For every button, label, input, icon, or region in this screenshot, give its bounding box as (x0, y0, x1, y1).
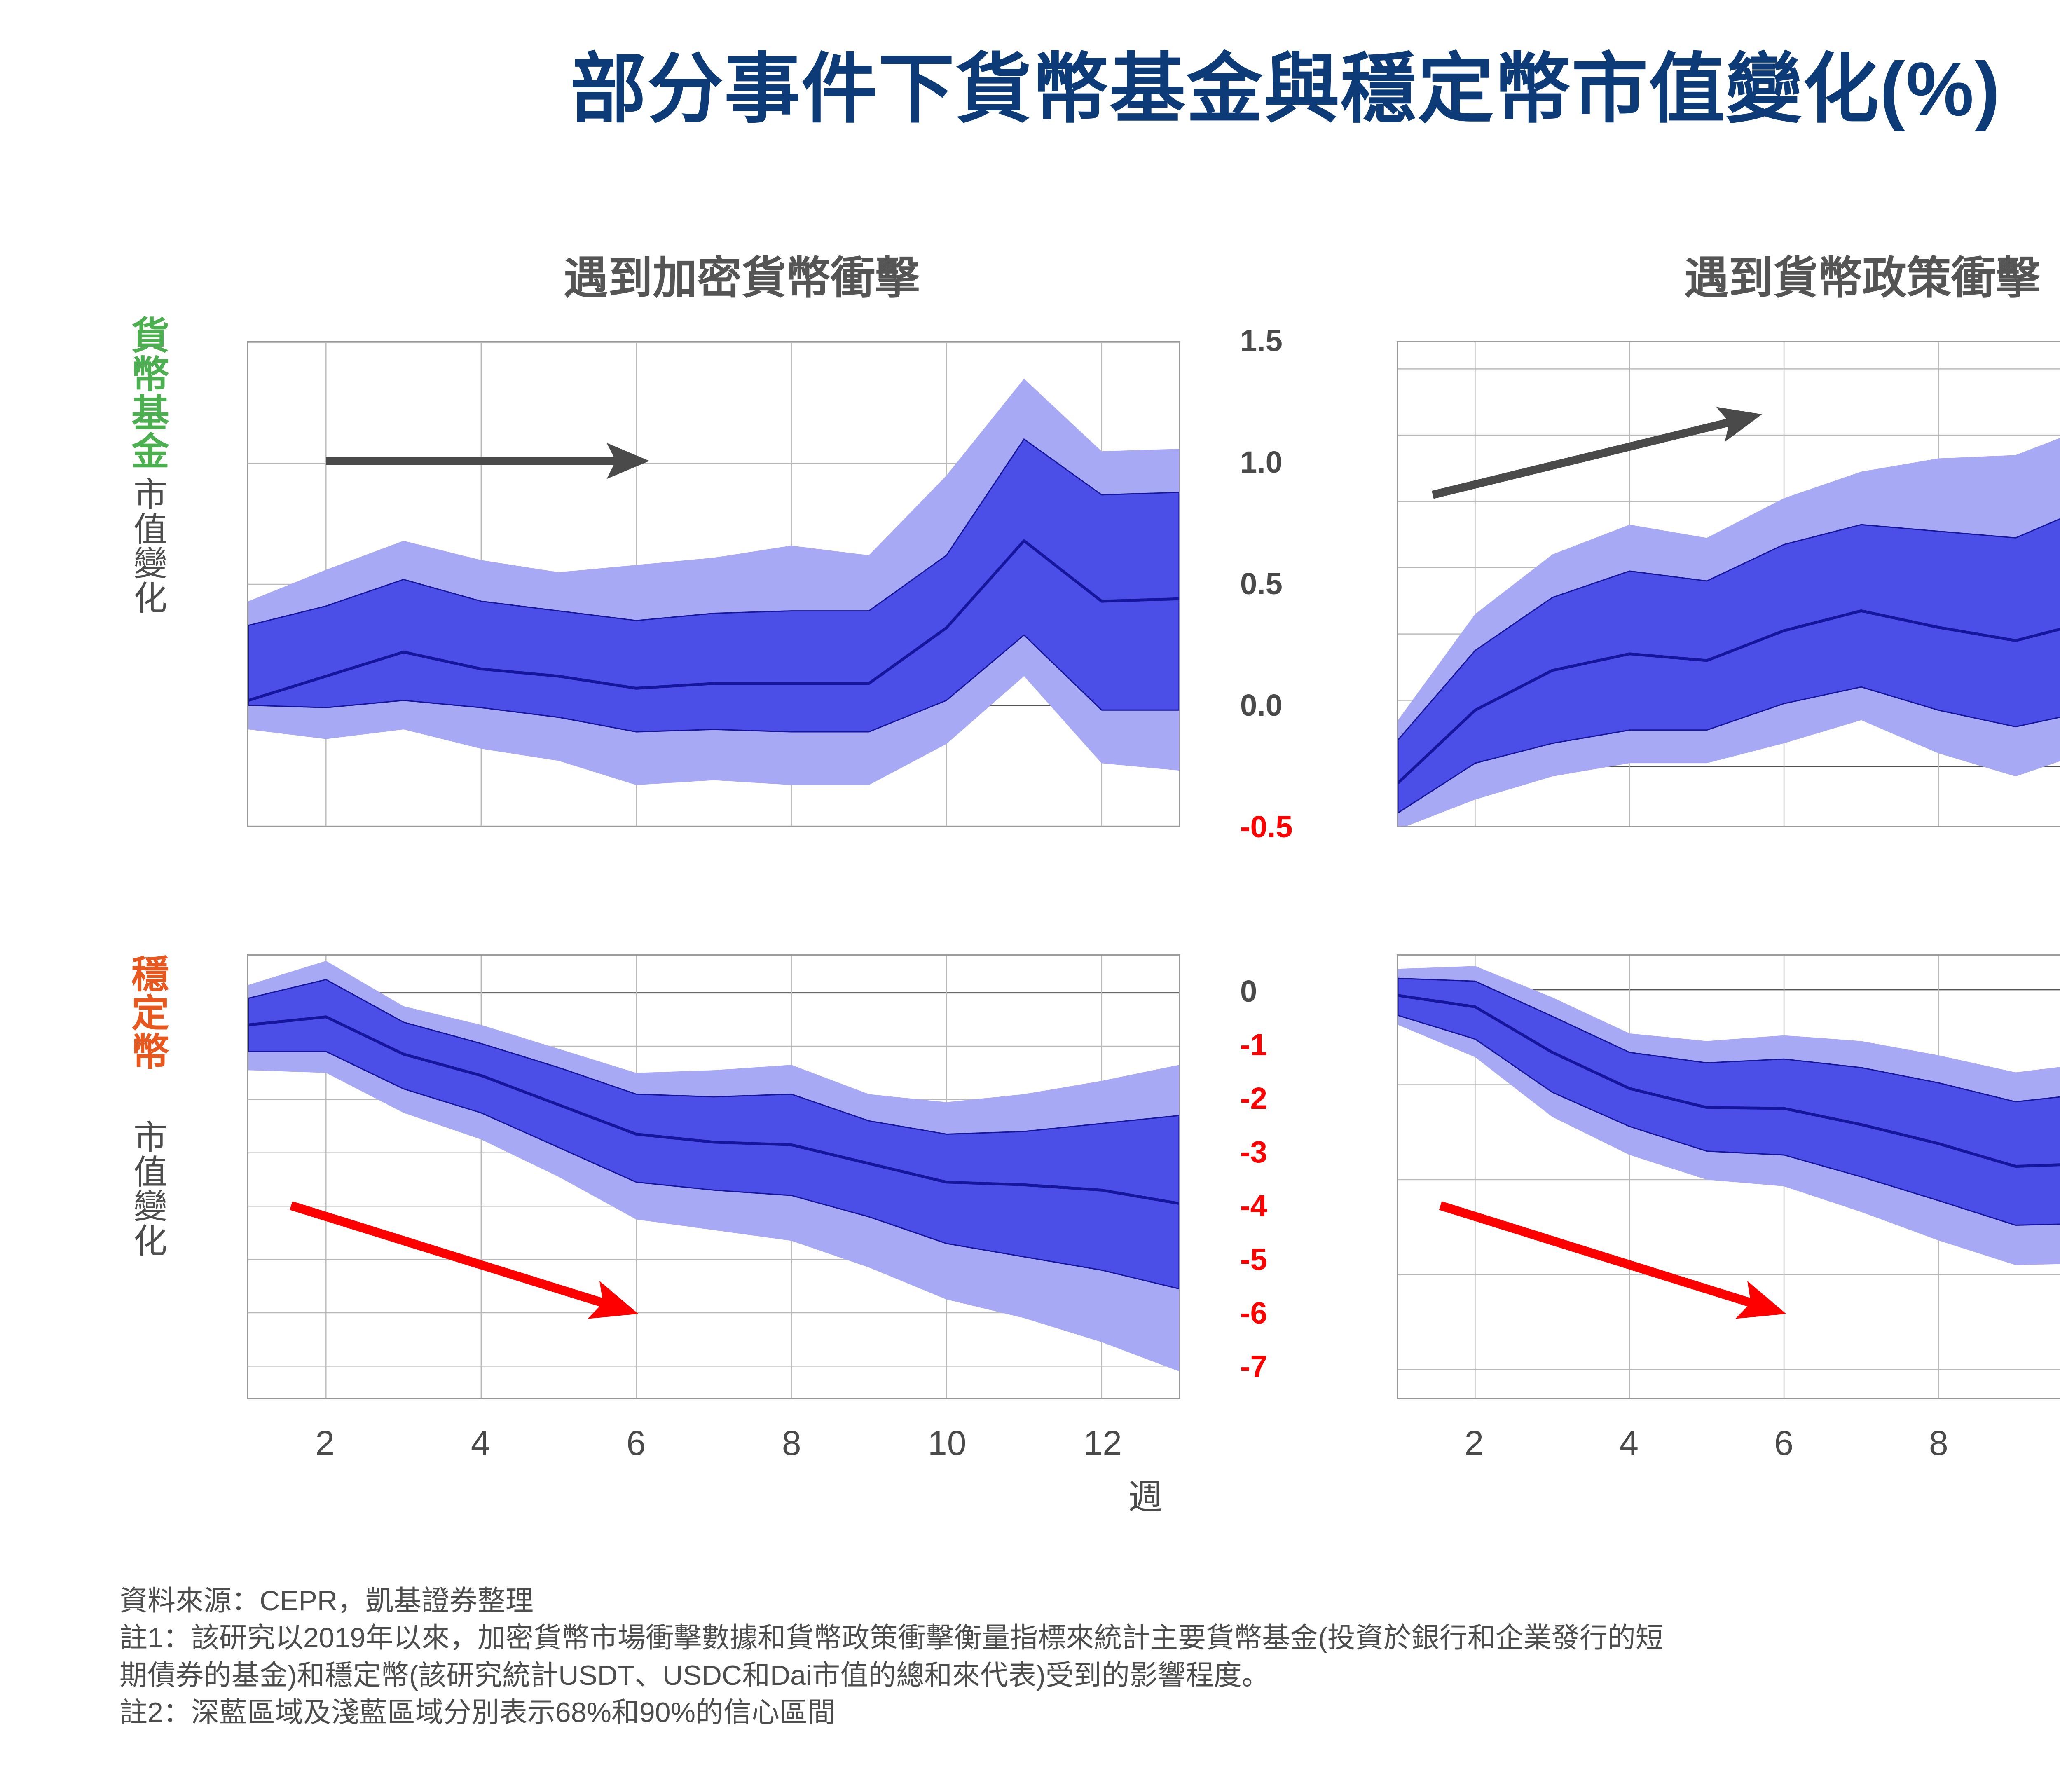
label-char: 化 (119, 581, 181, 616)
label-char: 幣 (119, 1033, 181, 1072)
label-char: 值 (119, 513, 181, 547)
row-label-money-market-fund: 貨幣基金 (119, 317, 181, 472)
label-char: 幣 (119, 356, 181, 395)
label-char: 變 (119, 547, 181, 581)
y-axis-tick-label: -1 (1240, 1027, 1267, 1062)
confidence-band-68 (1398, 978, 2060, 1305)
footnote-source: 資料來源：CEPR，凱基證券整理 (119, 1582, 2060, 1619)
label-char: 市 (119, 478, 181, 513)
y-axis-tick-label: 1.5 (1240, 323, 1283, 358)
footnote-note1-line2: 期債券的基金)和穩定幣(該研究統計USDT、USDC和Dai市值的總和來代表)受… (119, 1657, 2060, 1694)
slide-canvas: 部分事件下貨幣基金與穩定幣市值變化(%) 遇到加密貨幣衝擊 遇到貨幣政策衝擊 貨… (0, 0, 2060, 1792)
label-char: 貨 (119, 317, 181, 356)
plot-area (1397, 954, 2060, 1399)
panel-subtitle-crypto-shock: 遇到加密貨幣衝擊 (231, 242, 1252, 307)
label-char: 值 (119, 1155, 181, 1190)
page-title: 部分事件下貨幣基金與穩定幣市值變化(%) (0, 49, 2060, 129)
label-char: 基 (119, 395, 181, 433)
x-axis-tick-label: 2 (315, 1423, 335, 1463)
chart-svg (248, 956, 1179, 1398)
panel-subtitle-monetary-shock: 遇到貨幣政策衝擊 (1376, 242, 2060, 307)
chart-panel-stablecoin-crypto-shock: 0-1-2-3-4-5-6-724681012週 (247, 954, 1180, 1399)
x-axis-tick-label: 6 (626, 1423, 646, 1463)
x-axis-tick-label: 12 (1084, 1423, 1122, 1463)
x-axis-tick-label: 10 (928, 1423, 966, 1463)
plot-area (1397, 341, 2060, 827)
chart-panel-stablecoin-monetary-shock: 0-5-10-15-2024681012週 (1397, 954, 2060, 1399)
label-char: 定 (119, 995, 181, 1033)
y-axis-tick-label: 1.0 (1240, 445, 1283, 480)
y-axis-tick-label: -2 (1240, 1081, 1267, 1116)
chart-svg (1398, 956, 2060, 1398)
y-axis-tick-label: 0 (1240, 974, 1257, 1009)
x-axis-title: 週 (1128, 1469, 1163, 1519)
row-label-stablecoin: 穩定幣 (119, 956, 181, 1072)
x-axis-tick-label: 8 (782, 1423, 801, 1463)
row-sublabel-stablecoin-change: 市值變化 (119, 1121, 181, 1259)
confidence-band-68 (248, 979, 1179, 1289)
trend-arrow-annotation (291, 1206, 625, 1309)
x-axis-tick-label: 8 (1929, 1423, 1948, 1463)
y-axis-tick-label: -0.5 (1240, 809, 1293, 844)
label-char: 變 (119, 1190, 181, 1224)
x-axis-tick-label: 4 (1619, 1423, 1639, 1463)
chart-svg (248, 342, 1179, 826)
plot-area (247, 954, 1180, 1399)
label-char: 化 (119, 1224, 181, 1259)
label-char: 市 (119, 1121, 181, 1155)
y-axis-tick-label: -5 (1240, 1242, 1267, 1277)
chart-panel-mmf-crypto-shock: 1.51.00.50.0-0.5 (247, 341, 1180, 827)
footnote-note1-line1: 註1：該研究以2019年以來，加密貨幣市場衝擊數據和貨幣政策衝擊衡量指標來統計主… (119, 1619, 2060, 1656)
footnote-note2: 註2：深藍區域及淺藍區域分別表示68%和90%的信心區間 (119, 1694, 2060, 1731)
y-axis-tick-label: 0.5 (1240, 566, 1283, 601)
y-axis-tick-label: -6 (1240, 1295, 1267, 1331)
x-axis-tick-label: 6 (1774, 1423, 1793, 1463)
plot-area (247, 341, 1180, 827)
y-axis-tick-label: -7 (1240, 1349, 1267, 1384)
chart-panel-mmf-monetary-shock: 6543210 (1397, 341, 2060, 827)
footnotes: 資料來源：CEPR，凱基證券整理 註1：該研究以2019年以來，加密貨幣市場衝擊… (119, 1582, 2060, 1731)
y-axis-tick-label: -3 (1240, 1134, 1267, 1169)
y-axis-tick-label: 0.0 (1240, 688, 1283, 723)
label-char: 金 (119, 433, 181, 472)
trend-arrow-annotation (1433, 417, 1749, 495)
chart-svg (1398, 342, 2060, 826)
trend-arrow-annotation (1440, 1206, 1772, 1309)
row-sublabel-money-market-fund-change: 市值變化 (119, 478, 181, 616)
x-axis-tick-label: 4 (471, 1423, 490, 1463)
y-axis-tick-label: -4 (1240, 1188, 1267, 1223)
label-char: 穩 (119, 956, 181, 995)
x-axis-tick-label: 2 (1465, 1423, 1484, 1463)
